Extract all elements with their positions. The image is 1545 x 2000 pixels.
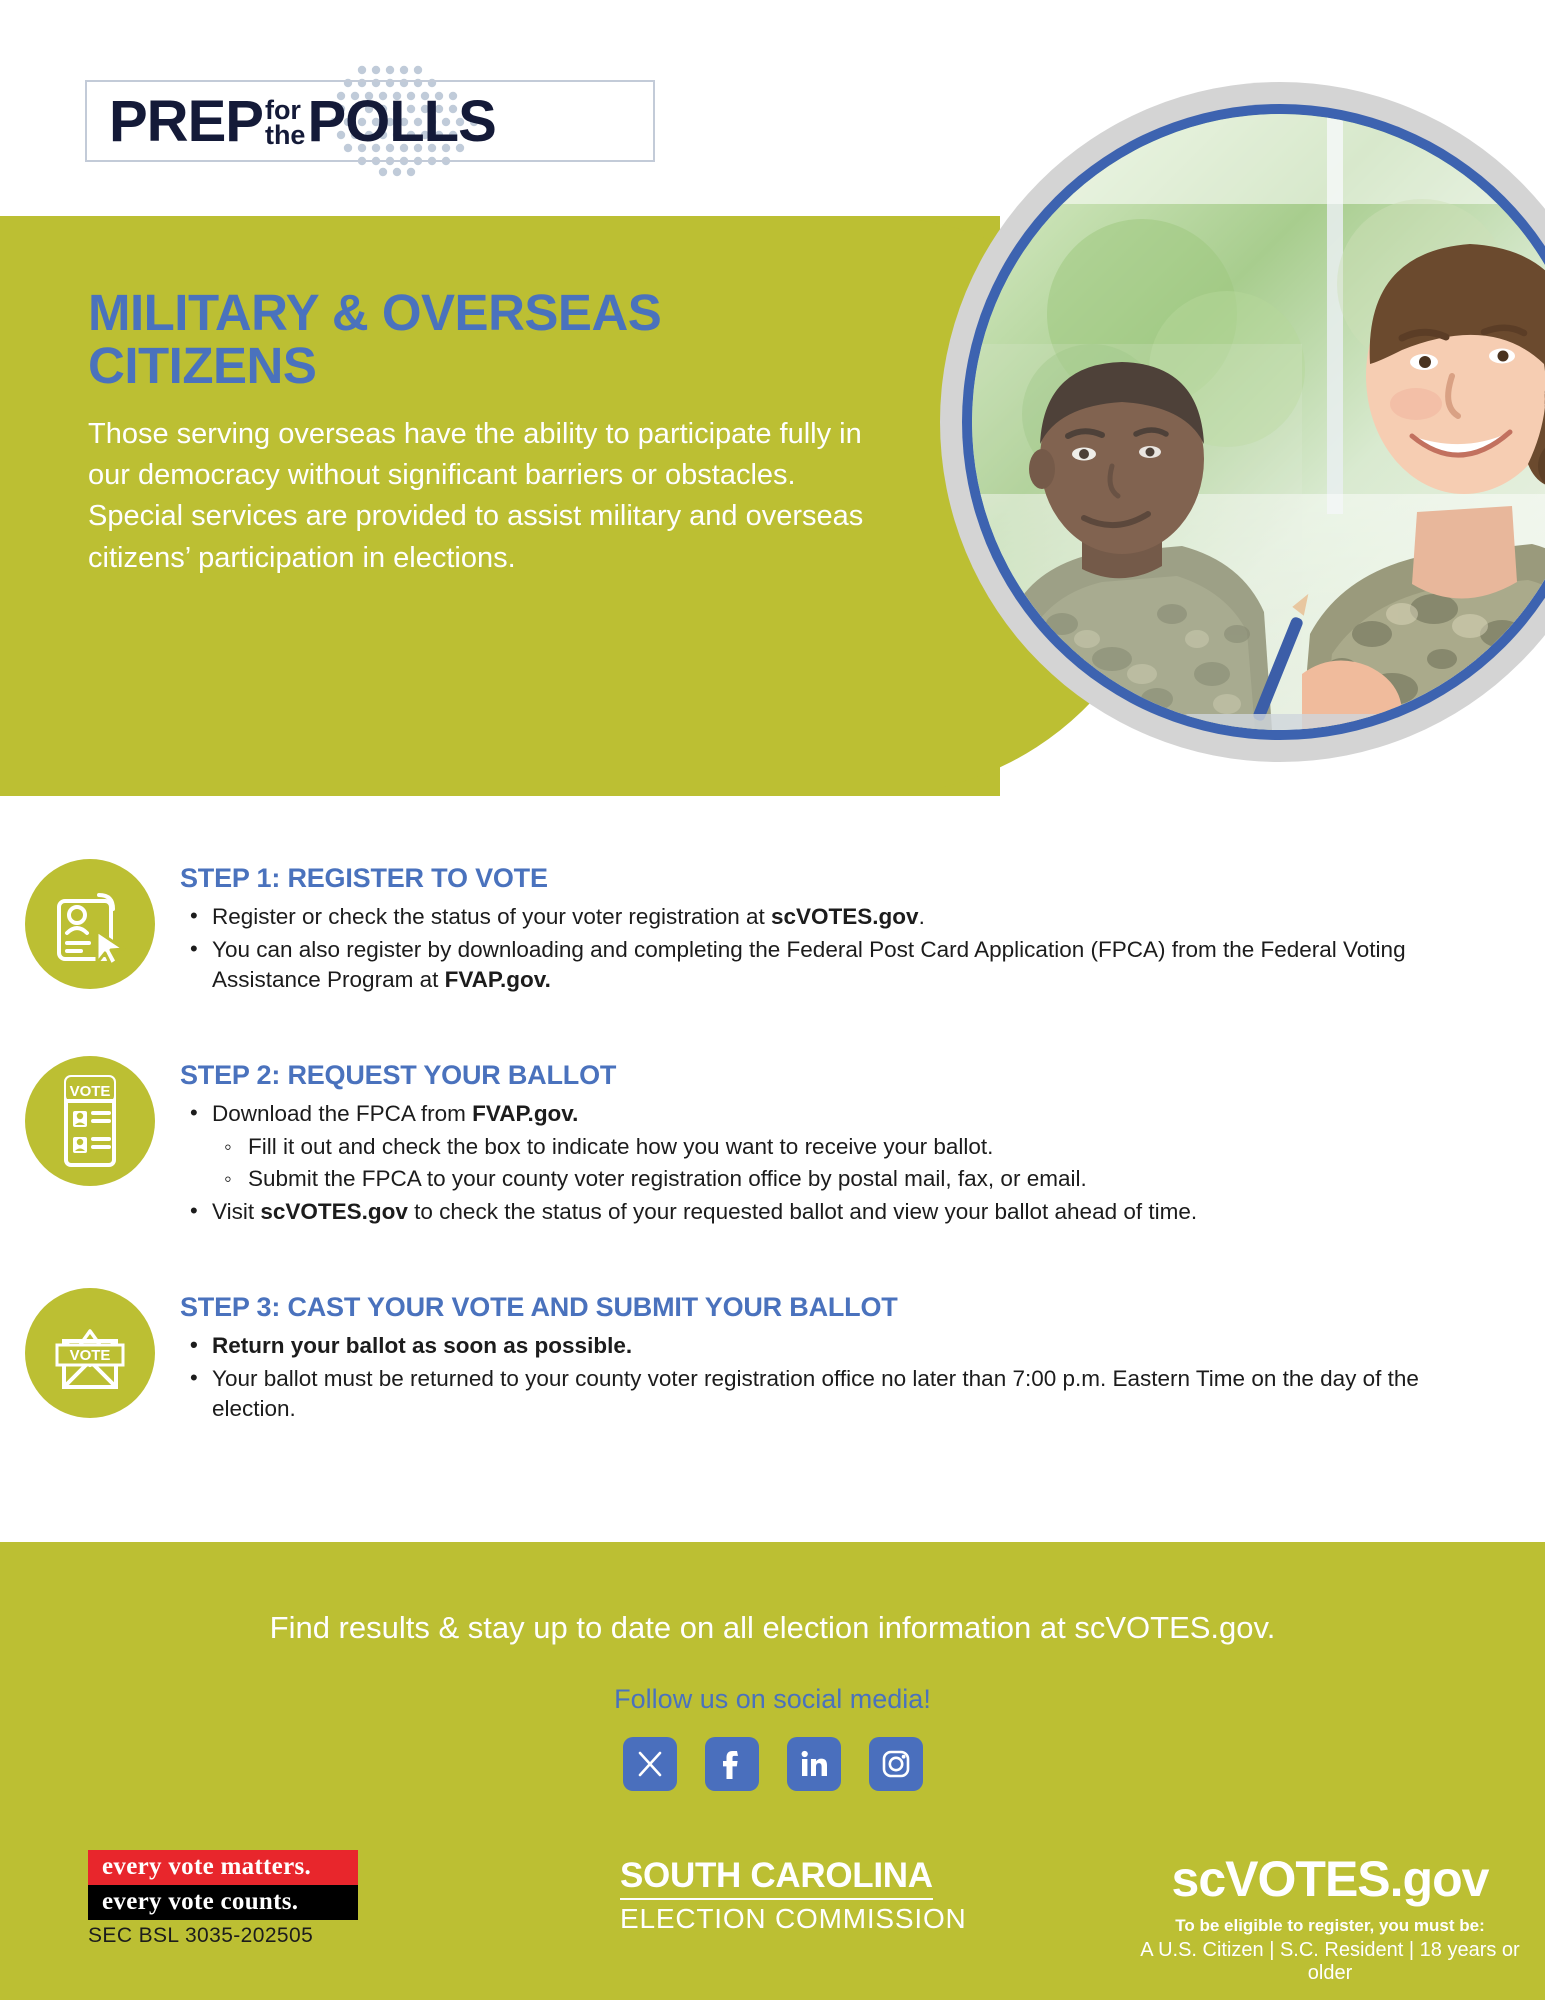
step-1-icon-circle (25, 859, 155, 989)
step-body: STEP 1: REGISTER TO VOTE Register or che… (180, 855, 1545, 998)
sub-list-item: Submit the FPCA to your county voter reg… (212, 1164, 1497, 1194)
eligibility-title: To be eligible to register, you must be: (1130, 1916, 1530, 1936)
step-icon-wrap (0, 855, 180, 989)
list-item: You can also register by downloading and… (180, 935, 1497, 995)
sc-logo-line1: SOUTH CAROLINA (620, 1856, 933, 1900)
step-2-icon-circle: VOTE (25, 1056, 155, 1186)
step-body: STEP 2: REQUEST YOUR BALLOT Download the… (180, 1052, 1545, 1230)
hero-photo-illustration (972, 114, 1545, 730)
step-item: STEP 1: REGISTER TO VOTE Register or che… (0, 855, 1545, 998)
eligibility-list: A U.S. Citizen | S.C. Resident | 18 year… (1130, 1939, 1530, 1985)
step-bullets: Download the FPCA from FVAP.gov. Fill it… (180, 1099, 1497, 1227)
sc-logo-line2: ELECTION COMMISSION (620, 1903, 967, 1935)
hero-text-block: MILITARY & OVERSEAS CITIZENS Those servi… (88, 286, 888, 579)
facebook-icon[interactable] (705, 1737, 759, 1791)
footer-logos: every vote matters. every vote counts. S… (0, 1842, 1545, 2000)
evm-line1: every vote matters. (88, 1850, 358, 1885)
document-code: SEC BSL 3035-202505 (88, 1924, 358, 1948)
step-bullets: Register or check the status of your vot… (180, 902, 1497, 995)
page-title: MILITARY & OVERSEAS CITIZENS (88, 286, 888, 392)
list-item: Download the FPCA from FVAP.gov. Fill it… (180, 1099, 1497, 1193)
step-title: STEP 3: CAST YOUR VOTE AND SUBMIT YOUR B… (180, 1292, 1497, 1323)
x-twitter-icon[interactable] (623, 1737, 677, 1791)
logo-word-polls: POLLS (307, 88, 495, 155)
sc-election-commission-logo: SOUTH CAROLINA ELECTION COMMISSION (620, 1856, 967, 1935)
every-vote-matters-logo: every vote matters. every vote counts. S… (88, 1850, 358, 1948)
list-item: Your ballot must be returned to your cou… (180, 1364, 1497, 1424)
ballot-vote-label: VOTE (70, 1083, 111, 1100)
instagram-glyph (880, 1748, 912, 1780)
list-item: Register or check the status of your vot… (180, 902, 1497, 932)
steps-section: STEP 1: REGISTER TO VOTE Register or che… (0, 855, 1545, 1481)
step-subbullets: Fill it out and check the box to indicat… (212, 1132, 1497, 1194)
logo-for-the: for the (265, 95, 306, 148)
x-glyph (635, 1749, 665, 1779)
instagram-icon[interactable] (869, 1737, 923, 1791)
step-item: VOTE STEP 3: CAST YOUR VOTE AND SUBMIT Y… (0, 1284, 1545, 1427)
linkedin-icon[interactable] (787, 1737, 841, 1791)
hero-title-line1: MILITARY & OVERSEAS (88, 286, 888, 339)
scvotes-wordmark: scVOTES.gov (1130, 1850, 1530, 1908)
hero-body-text: Those serving overseas have the ability … (88, 414, 888, 579)
ballot-card-icon: VOTE (47, 1073, 133, 1169)
scvotes-logo-block: scVOTES.gov To be eligible to register, … (1130, 1850, 1530, 1985)
prep-for-the-polls-logo: PREP for the POLLS (85, 62, 655, 177)
logo-word-prep: PREP (109, 88, 263, 155)
envelope-vote-label: VOTE (70, 1347, 111, 1364)
envelope-vote-icon: VOTE (44, 1307, 136, 1399)
list-item: Visit scVOTES.gov to check the status of… (180, 1197, 1497, 1227)
step-item: VOTE STEP 2: RE (0, 1052, 1545, 1230)
hero-photo-circle (940, 82, 1545, 762)
step-title: STEP 2: REQUEST YOUR BALLOT (180, 1060, 1497, 1091)
logo-word-the: the (265, 123, 306, 148)
hero-title-line2: CITIZENS (88, 339, 888, 392)
logo-word-for: for (265, 98, 306, 123)
step-3-icon-circle: VOTE (25, 1288, 155, 1418)
step-title: STEP 1: REGISTER TO VOTE (180, 863, 1497, 894)
facebook-glyph (717, 1747, 747, 1781)
step-bullets: Return your ballot as soon as possible. … (180, 1331, 1497, 1424)
social-links (0, 1737, 1545, 1791)
hero-photo (972, 114, 1545, 730)
sub-list-item: Fill it out and check the box to indicat… (212, 1132, 1497, 1162)
register-voter-icon (47, 881, 133, 967)
linkedin-glyph (799, 1749, 829, 1779)
footer: Find results & stay up to date on all el… (0, 1542, 1545, 2000)
list-item: Return your ballot as soon as possible. (180, 1331, 1497, 1361)
footer-tagline: Find results & stay up to date on all el… (0, 1610, 1545, 1646)
poster-page: PREP for the POLLS (0, 0, 1545, 2000)
footer-social-prompt: Follow us on social media! (0, 1684, 1545, 1715)
evm-line2: every vote counts. (88, 1885, 358, 1920)
step-body: STEP 3: CAST YOUR VOTE AND SUBMIT YOUR B… (180, 1284, 1545, 1427)
step-icon-wrap: VOTE (0, 1284, 180, 1418)
step-icon-wrap: VOTE (0, 1052, 180, 1186)
